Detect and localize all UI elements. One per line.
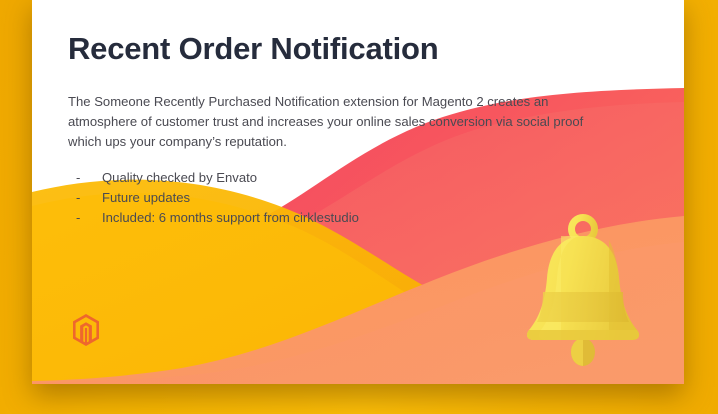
slide-content: Recent Order Notification The Someone Re…: [68, 30, 628, 228]
promo-slide-card: Recent Order Notification The Someone Re…: [32, 0, 684, 384]
feature-label: Included: 6 months support from cirklest…: [102, 210, 359, 225]
dash-bullet-icon: -: [76, 208, 80, 228]
dash-bullet-icon: -: [76, 188, 80, 208]
feature-label: Future updates: [102, 190, 190, 205]
magento-logo-icon: [72, 314, 100, 346]
list-item: - Future updates: [68, 188, 628, 208]
feature-label: Quality checked by Envato: [102, 170, 257, 185]
list-item: - Quality checked by Envato: [68, 168, 628, 188]
feature-list: - Quality checked by Envato - Future upd…: [68, 168, 628, 228]
slide-description: The Someone Recently Purchased Notificat…: [68, 92, 588, 152]
notification-bell-icon: [521, 206, 646, 371]
page-title: Recent Order Notification: [68, 30, 628, 68]
dash-bullet-icon: -: [76, 168, 80, 188]
slide-background: Recent Order Notification The Someone Re…: [0, 0, 718, 414]
list-item: - Included: 6 months support from cirkle…: [68, 208, 628, 228]
